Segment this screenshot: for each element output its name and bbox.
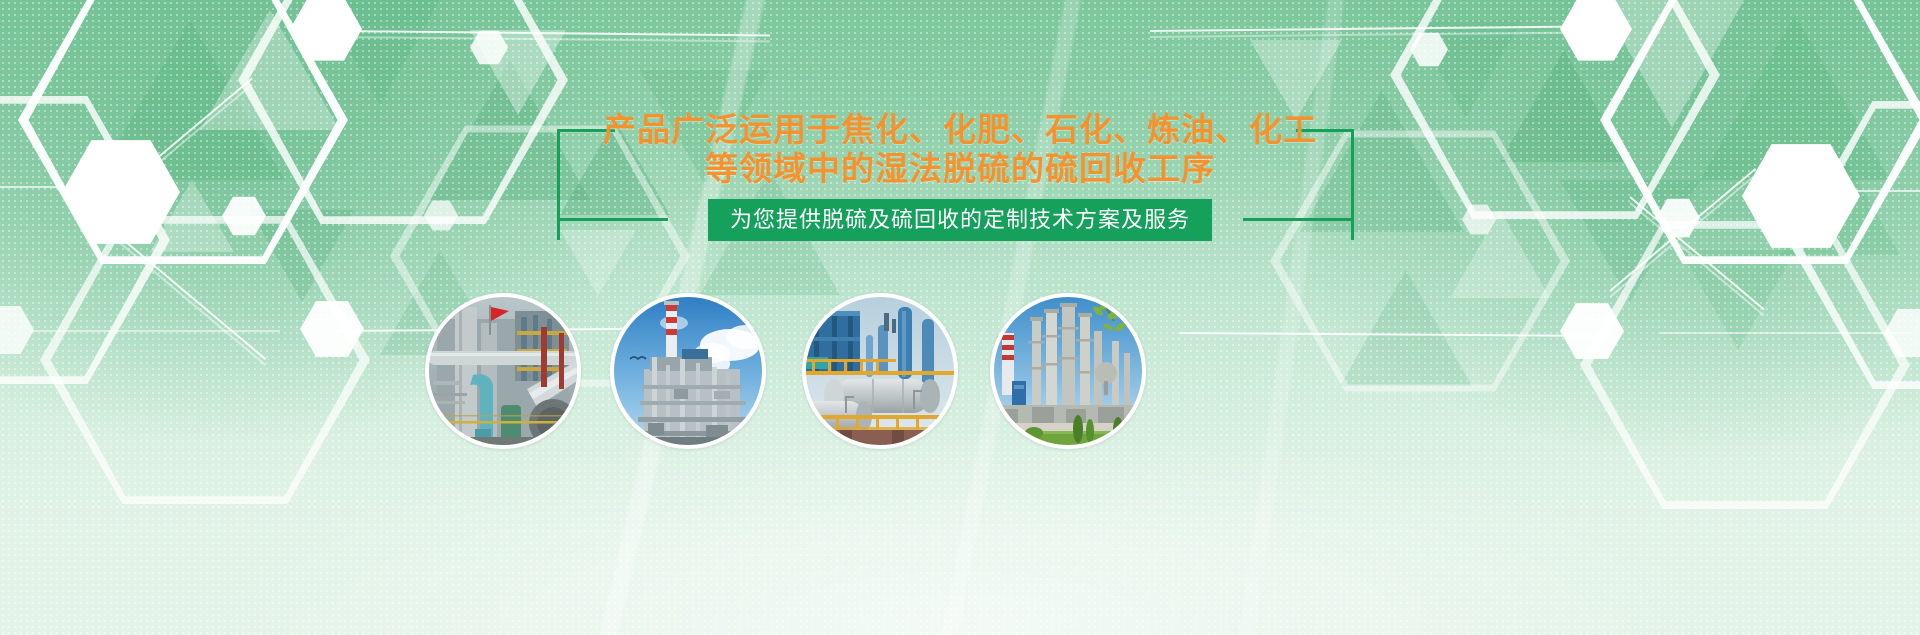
photo-circle-3 xyxy=(802,293,958,449)
bracket-right-bottom-rule xyxy=(1243,218,1354,221)
hero-banner: 产品广泛运用于焦化、化肥、石化、炼油、化工 等领域中的湿法脱硫的硫回收工序 为您… xyxy=(0,0,1920,635)
photo-circle-2 xyxy=(610,293,766,449)
bracket-left-bottom-rule xyxy=(557,218,668,221)
photo-circle-4 xyxy=(990,293,1146,449)
banner-headline-line-2: 等领域中的湿法脱硫的硫回收工序 xyxy=(0,149,1920,188)
banner-content: 产品广泛运用于焦化、化肥、石化、炼油、化工 等领域中的湿法脱硫的硫回收工序 为您… xyxy=(0,0,1920,635)
banner-headline: 产品广泛运用于焦化、化肥、石化、炼油、化工 等领域中的湿法脱硫的硫回收工序 xyxy=(0,110,1920,188)
photo-strip xyxy=(0,293,1920,453)
chimney-plant-photo xyxy=(614,297,762,445)
refinery-towers-photo xyxy=(994,297,1142,445)
refinery-piping-photo xyxy=(429,297,577,445)
photo-circle-1 xyxy=(425,293,581,449)
banner-headline-line-1: 产品广泛运用于焦化、化肥、石化、炼油、化工 xyxy=(0,110,1920,149)
pressure-vessels-photo xyxy=(806,297,954,445)
banner-subheadline-ribbon: 为您提供脱硫及硫回收的定制技术方案及服务 xyxy=(708,199,1212,241)
